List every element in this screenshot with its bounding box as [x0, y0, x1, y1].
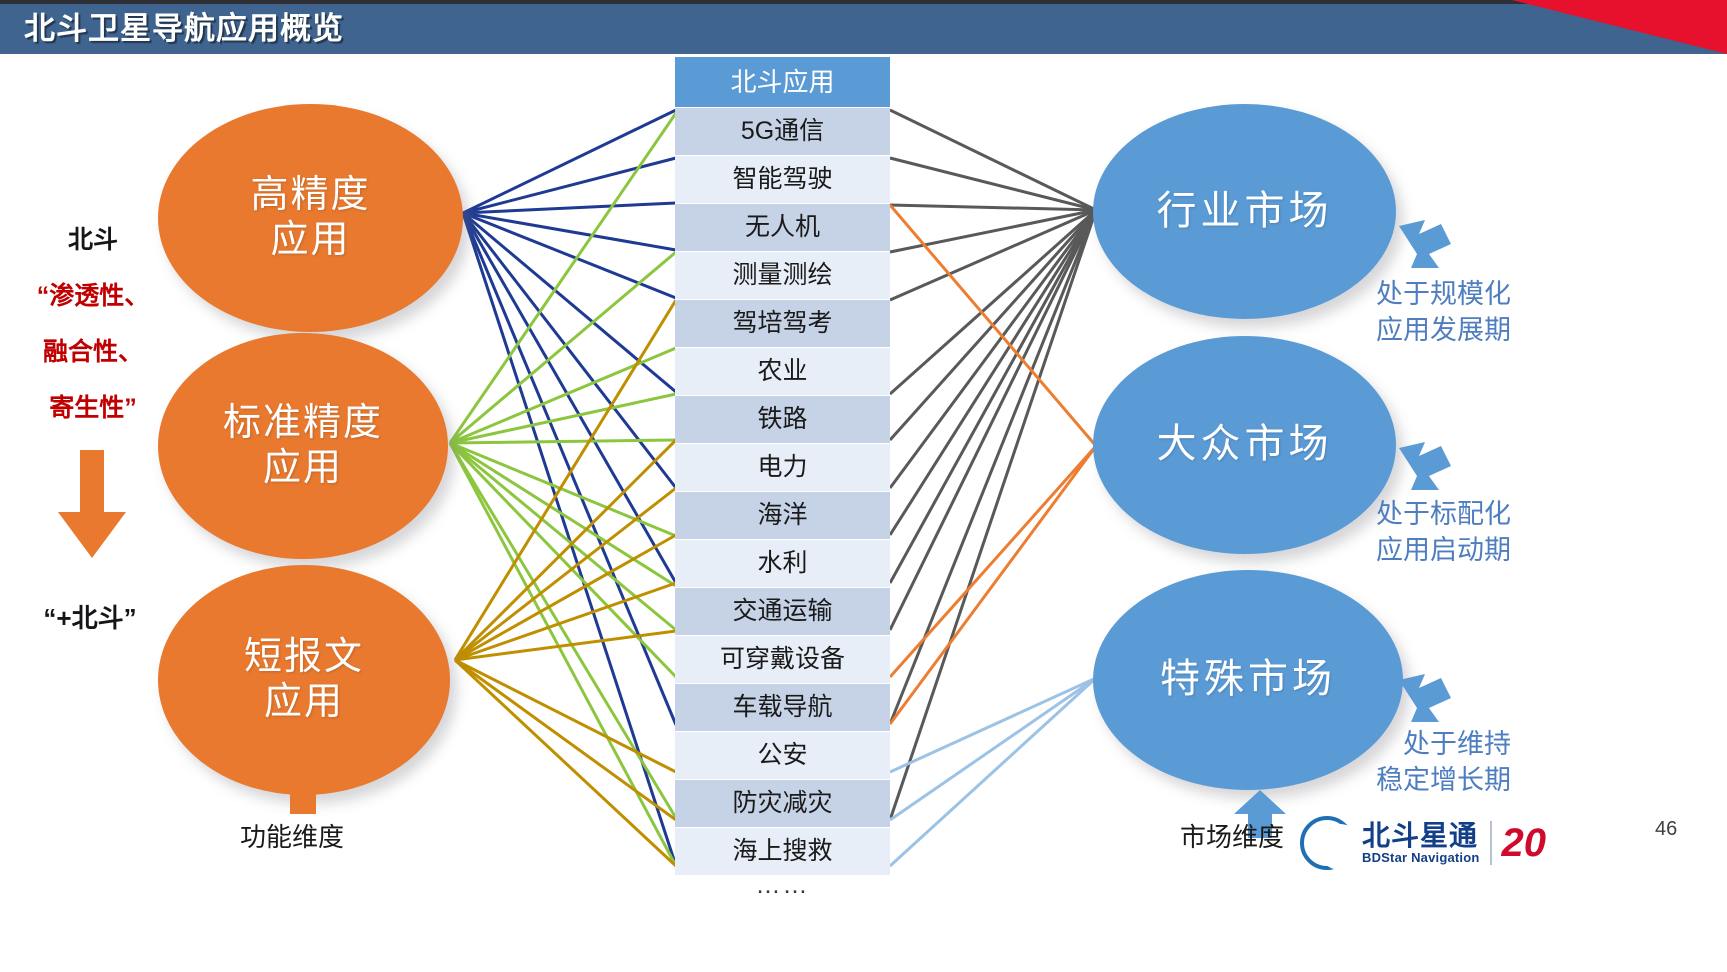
market-node-label: 大众市场 — [1157, 421, 1333, 468]
function-node-high-precision[interactable]: 高精度 应用 — [158, 104, 463, 332]
application-list-item[interactable]: 公安 — [675, 732, 890, 780]
market-node-label: 行业市场 — [1157, 188, 1333, 235]
left-trait-block: 北斗 “渗透性、 融合性、 寄生性” — [8, 212, 178, 436]
logo-divider — [1490, 821, 1492, 865]
company-logo: ★ ★ ★ ★ 北斗星通 BDStar Navigation 20 — [1300, 812, 1610, 874]
logo-name-cn: 北斗星通 — [1362, 822, 1480, 850]
bdstar-mark-icon: ★ ★ ★ ★ — [1300, 816, 1354, 870]
axis-label-left: 功能维度 — [240, 817, 344, 854]
red-triangle-decoration — [1477, 0, 1727, 54]
market-note-industry: 处于规模化 应用发展期 — [1376, 276, 1511, 348]
application-list-item[interactable]: 测量测绘 — [675, 252, 890, 300]
market-note-arrow-icon — [1395, 672, 1455, 730]
application-list-item[interactable]: 防灾减灾 — [675, 780, 890, 828]
down-arrow-icon — [56, 450, 128, 560]
application-list-item[interactable]: 5G通信 — [675, 108, 890, 156]
application-list-header: 北斗应用 — [675, 57, 890, 108]
market-note-arrow-icon — [1395, 440, 1455, 498]
function-node-label: 高精度 应用 — [250, 173, 370, 263]
function-node-label: 标准精度 应用 — [223, 401, 383, 491]
title-bar: 北斗卫星导航应用概览 — [0, 0, 1727, 54]
application-list-item[interactable]: 可穿戴设备 — [675, 636, 890, 684]
slide-canvas: 北斗卫星导航应用概览 — [0, 0, 1727, 972]
application-list-item[interactable]: 海洋 — [675, 492, 890, 540]
star-icon: ★ — [1334, 855, 1344, 866]
application-list-item[interactable]: 电力 — [675, 444, 890, 492]
function-node-label: 短报文 应用 — [244, 635, 364, 725]
market-node-label: 特殊市场 — [1160, 656, 1336, 703]
market-note-special: 处于维持 稳定增长期 — [1376, 726, 1511, 798]
application-list-item[interactable]: 海上搜救 — [675, 828, 890, 876]
market-note-mass: 处于标配化 应用启动期 — [1376, 496, 1511, 568]
application-list-item[interactable]: 水利 — [675, 540, 890, 588]
application-list: 北斗应用 5G通信 智能驾驶 无人机 测量测绘 驾培驾考 农业 铁路 电力 海洋… — [675, 57, 890, 904]
market-node-special[interactable]: 特殊市场 — [1093, 570, 1403, 790]
application-list-item[interactable]: 无人机 — [675, 204, 890, 252]
left-trait-1: “渗透性、 — [8, 268, 178, 324]
up-arrow-icon — [272, 762, 334, 814]
market-node-industry[interactable]: 行业市场 — [1093, 104, 1396, 319]
star-icon: ★ — [1335, 842, 1345, 853]
application-list-item[interactable]: 农业 — [675, 348, 890, 396]
application-list-item[interactable]: 铁路 — [675, 396, 890, 444]
market-node-mass[interactable]: 大众市场 — [1093, 336, 1396, 554]
page-number: 46 — [1655, 818, 1677, 841]
anniversary-mark: 20 — [1502, 823, 1547, 863]
application-list-item[interactable]: 车载导航 — [675, 684, 890, 732]
market-note-arrow-icon — [1395, 218, 1455, 276]
logo-name-en: BDStar Navigation — [1362, 850, 1480, 865]
application-list-item[interactable]: 驾培驾考 — [675, 300, 890, 348]
left-conclusion: “+北斗” — [0, 598, 180, 635]
page-title: 北斗卫星导航应用概览 — [24, 4, 344, 54]
star-icon: ★ — [1324, 832, 1334, 843]
left-trait-2: 融合性、 — [8, 324, 178, 380]
application-list-item[interactable]: 智能驾驶 — [675, 156, 890, 204]
star-icon: ★ — [1322, 848, 1332, 859]
function-node-standard-precision[interactable]: 标准精度 应用 — [158, 333, 448, 559]
function-node-short-message[interactable]: 短报文 应用 — [158, 565, 450, 795]
application-list-ellipsis: …… — [675, 876, 890, 904]
axis-label-right: 市场维度 — [1180, 817, 1284, 854]
left-trait-3: 寄生性” — [8, 380, 178, 436]
application-list-item[interactable]: 交通运输 — [675, 588, 890, 636]
left-heading: 北斗 — [8, 212, 178, 268]
